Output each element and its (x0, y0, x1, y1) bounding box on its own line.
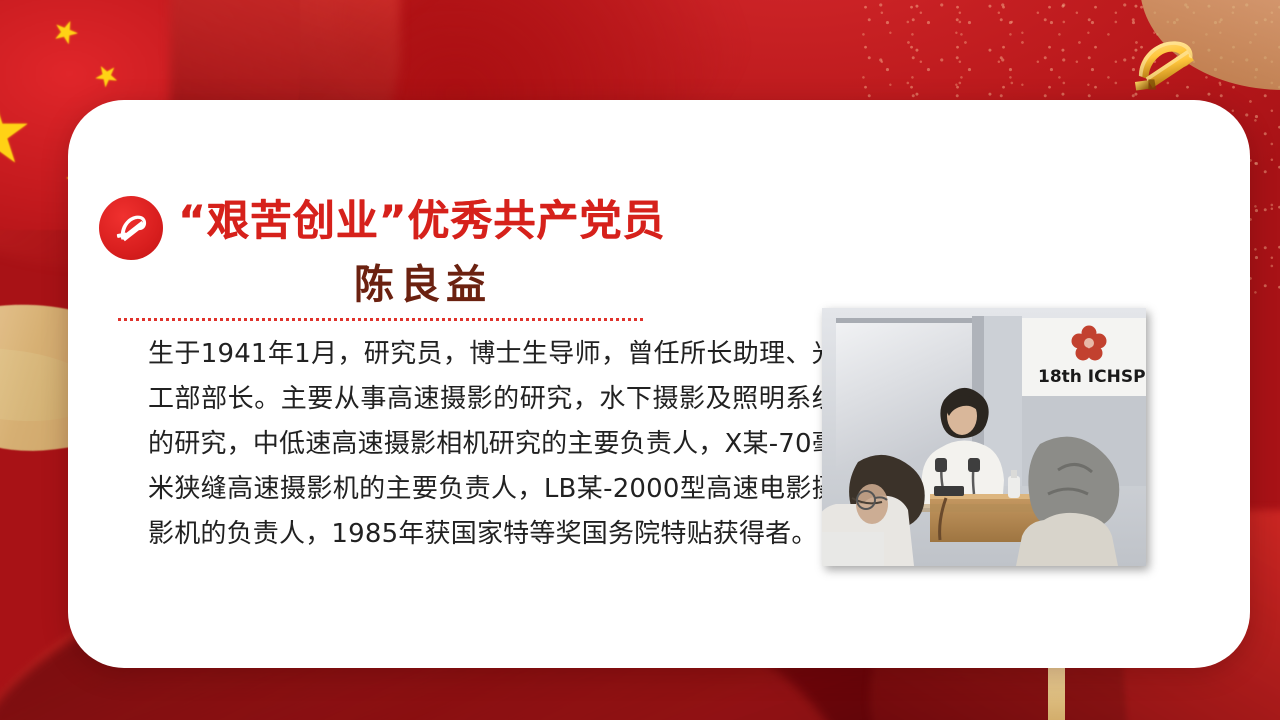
conference-photo: 18th ICHSPP (822, 308, 1146, 566)
title-block: “艰苦创业”优秀共产党员 陈良益 (178, 196, 818, 310)
party-emblem-icon (99, 196, 163, 260)
title-divider (118, 318, 644, 321)
party-emblem-hammer-sickle-icon (1120, 26, 1206, 100)
page-title: “艰苦创业”优秀共产党员 (178, 196, 818, 246)
flag-star-1: ★ (47, 14, 83, 52)
svg-text:18th ICHSPP: 18th ICHSPP (1038, 367, 1146, 387)
content-card: “艰苦创业”优秀共产党员 陈良益 生于1941年1月，研究员，博士生导师，曾任所… (68, 100, 1250, 668)
person-name: 陈良益 (178, 252, 818, 310)
biography-text: 生于1941年1月，研究员，博士生导师，曾任所长助理、光工部部长。主要从事高速摄… (148, 332, 838, 557)
flag-star-large: ★ (0, 90, 33, 176)
flag-star-2: ★ (88, 57, 125, 95)
